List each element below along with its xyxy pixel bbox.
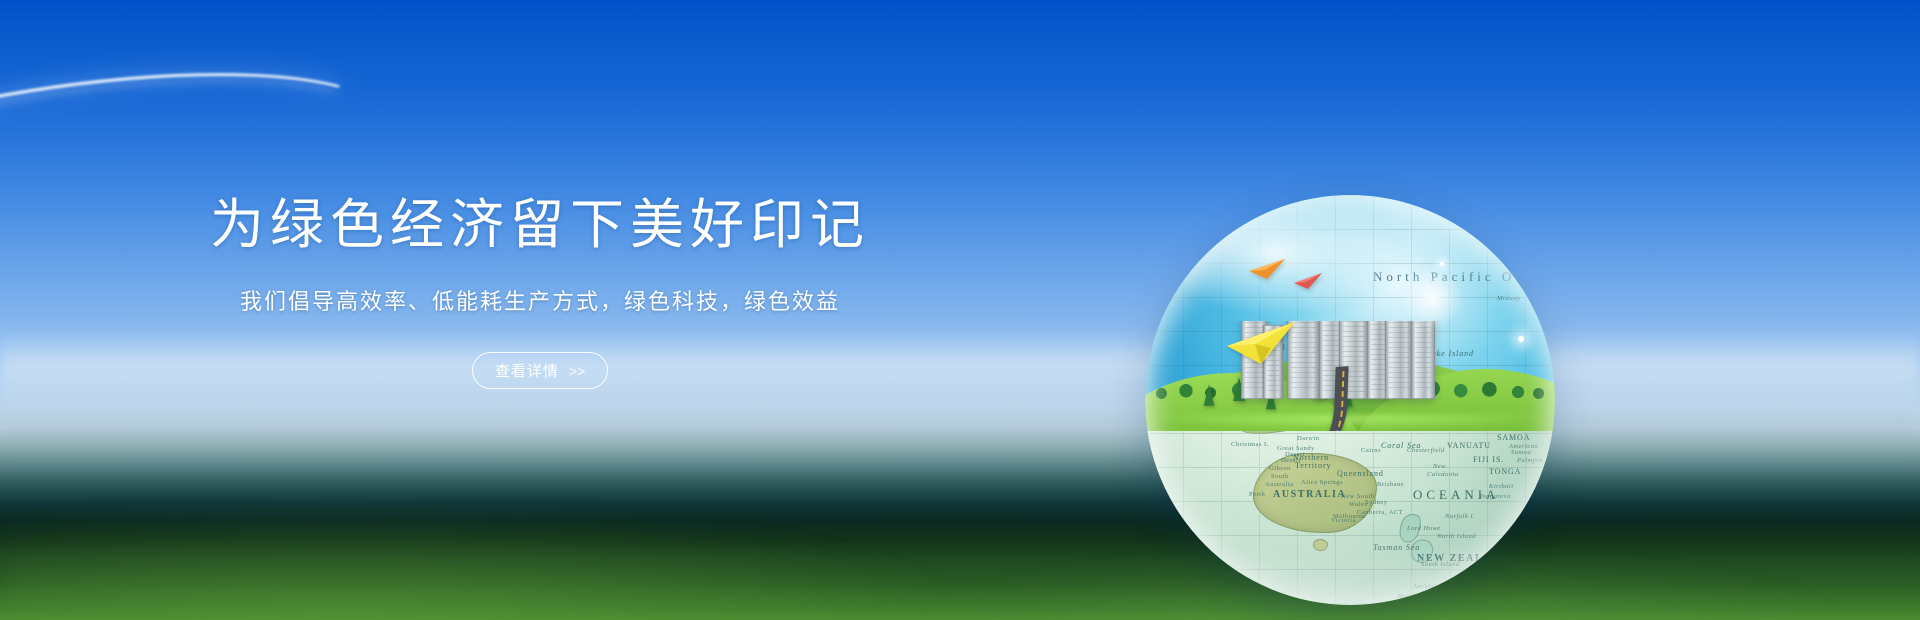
background-ground-sheen [0, 390, 1920, 620]
building [1411, 321, 1435, 399]
hero-banner: North Pacific OceanOCEANIAAUSTRALIANEW Z… [0, 0, 1920, 620]
hero-copy: 为绿色经济留下美好印记 我们倡导高效率、低能耗生产方式，绿色科技，绿色效益 查看… [0, 196, 1080, 389]
globe-graphic: North Pacific OceanOCEANIAAUSTRALIANEW Z… [1145, 195, 1555, 605]
paper-plane-red-icon [1293, 272, 1323, 290]
paper-plane-orange-icon [1248, 258, 1286, 280]
hero-subheadline: 我们倡导高效率、低能耗生产方式，绿色科技，绿色效益 [0, 284, 1080, 316]
hero-headline: 为绿色经济留下美好印记 [0, 196, 1080, 254]
view-details-label: 查看详情 [495, 360, 559, 381]
building [1385, 321, 1413, 399]
road-center-line [1281, 371, 1344, 431]
globe-landscape-scene [1145, 321, 1555, 431]
paper-plane-yellow-icon [1225, 320, 1297, 366]
view-details-button[interactable]: 查看详情 >> [472, 352, 608, 389]
globe-sparkle [1518, 336, 1524, 342]
landmass-australia [1253, 453, 1377, 533]
globe-sparkle [1440, 262, 1444, 266]
grass-edge-glow [1145, 415, 1555, 431]
chevron-double-right-icon: >> [569, 363, 585, 379]
globe-sphere: North Pacific OceanOCEANIAAUSTRALIANEW Z… [1145, 195, 1555, 605]
hero-cta-wrap: 查看详情 >> [0, 352, 1080, 389]
tree-icon [1204, 384, 1215, 406]
